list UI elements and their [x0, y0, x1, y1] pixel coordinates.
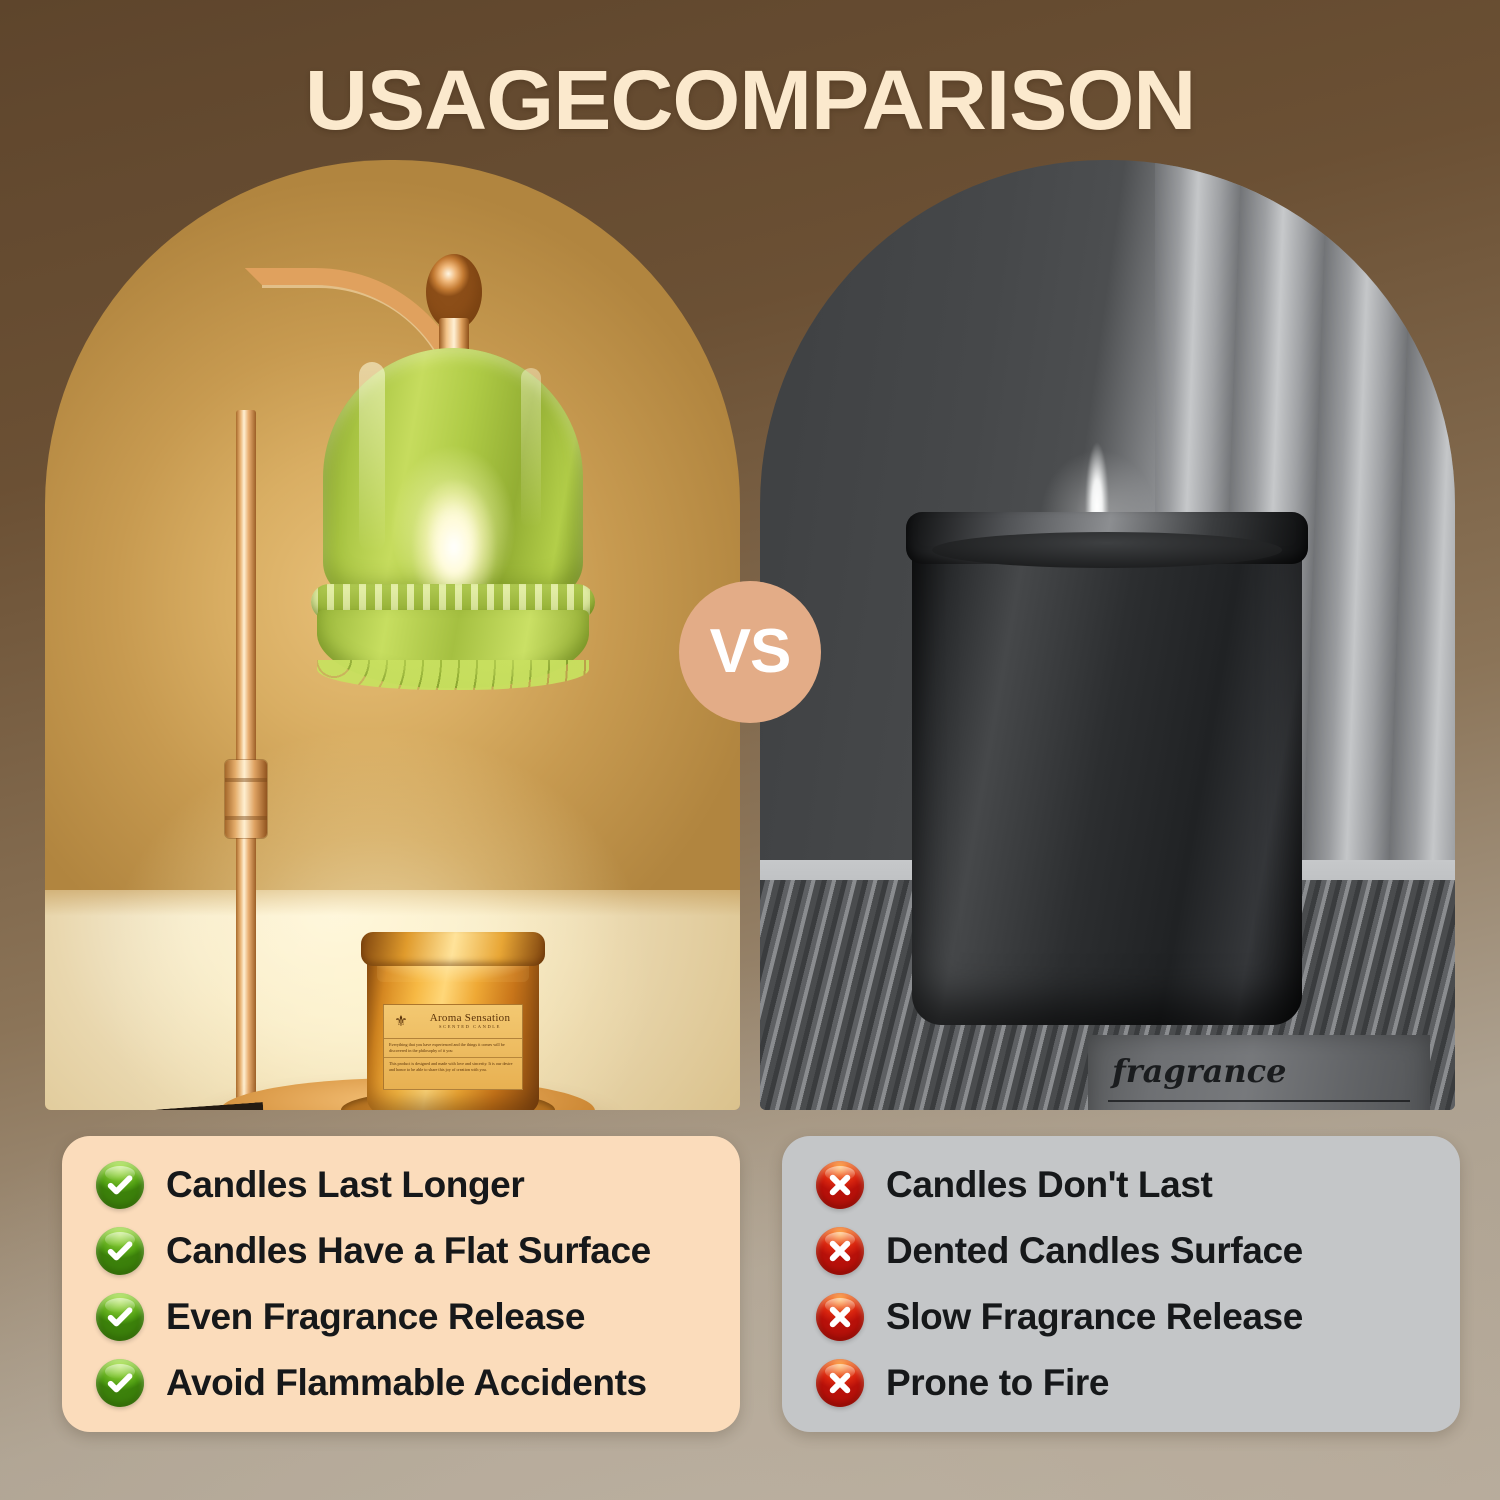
vs-label: VS	[710, 621, 791, 683]
lampshade-scalloped-skirt	[317, 610, 589, 688]
list-item: Candles Don't Last	[816, 1161, 1440, 1209]
list-item: Candles Have a Flat Surface	[96, 1227, 720, 1275]
dark-label-script: fragrance	[1112, 1055, 1410, 1087]
amber-jar-rim	[361, 932, 545, 966]
amber-label-paragraph-1: Everything that you have experienced and…	[384, 1039, 522, 1058]
lamp-height-collar	[225, 760, 267, 838]
amber-label-paragraph-2: This product is designed and made with l…	[384, 1058, 522, 1076]
cross-circle-icon	[816, 1293, 864, 1341]
amber-label-names: Aroma Sensation SCENTED CANDLE	[418, 1013, 522, 1029]
lamp-post	[236, 410, 256, 1100]
check-circle-icon	[96, 1359, 144, 1407]
pros-panel: Candles Last Longer Candles Have a Flat …	[62, 1136, 740, 1432]
list-item: Dented Candles Surface	[816, 1227, 1440, 1275]
cons-item-label: Candles Don't Last	[886, 1166, 1212, 1205]
dark-candle-wax	[932, 532, 1282, 568]
page-title: USAGECOMPARISON	[305, 58, 1195, 142]
dark-label-rule-top	[1108, 1100, 1410, 1102]
green-glass-lampshade	[305, 348, 600, 678]
cons-panel: Candles Don't Last Dented Candles Surfac…	[782, 1136, 1460, 1432]
check-circle-icon	[96, 1161, 144, 1209]
pros-item-label: Avoid Flammable Accidents	[166, 1364, 647, 1403]
cons-item-label: Dented Candles Surface	[886, 1232, 1303, 1271]
list-item: Slow Fragrance Release	[816, 1293, 1440, 1341]
pros-item-label: Candles Have a Flat Surface	[166, 1232, 651, 1271]
cross-circle-icon	[816, 1359, 864, 1407]
cons-item-label: Slow Fragrance Release	[886, 1298, 1303, 1337]
crest-icon: ⚜	[384, 1012, 418, 1031]
list-item: Avoid Flammable Accidents	[96, 1359, 720, 1407]
check-circle-icon	[96, 1227, 144, 1275]
amber-label-subtitle: SCENTED CANDLE	[418, 1025, 522, 1030]
dark-jar-label: fragrance Scented candle Aromatherapy ca…	[1088, 1035, 1430, 1110]
candle-warmer-lamp-photo: ⚜ Aroma Sensation SCENTED CANDLE Everyth…	[45, 160, 740, 1110]
list-item: Prone to Fire	[816, 1359, 1440, 1407]
check-circle-icon	[96, 1293, 144, 1341]
pros-item-label: Candles Last Longer	[166, 1166, 524, 1205]
list-item: Even Fragrance Release	[96, 1293, 720, 1341]
page-header: USAGECOMPARISON	[0, 50, 1500, 150]
cross-circle-icon	[816, 1161, 864, 1209]
amber-label-header: ⚜ Aroma Sensation SCENTED CANDLE	[384, 1005, 522, 1039]
list-item: Candles Last Longer	[96, 1161, 720, 1209]
dark-candle-jar: fragrance Scented candle Aromatherapy ca…	[912, 535, 1302, 1025]
amber-candle-jar: ⚜ Aroma Sensation SCENTED CANDLE Everyth…	[367, 946, 539, 1110]
pros-item-label: Even Fragrance Release	[166, 1298, 585, 1337]
cross-circle-icon	[816, 1227, 864, 1275]
cons-item-label: Prone to Fire	[886, 1364, 1109, 1403]
amber-jar-label: ⚜ Aroma Sensation SCENTED CANDLE Everyth…	[383, 1004, 523, 1090]
scented-candle-photo: fragrance Scented candle Aromatherapy ca…	[760, 160, 1455, 1110]
vs-badge: VS	[679, 581, 821, 723]
